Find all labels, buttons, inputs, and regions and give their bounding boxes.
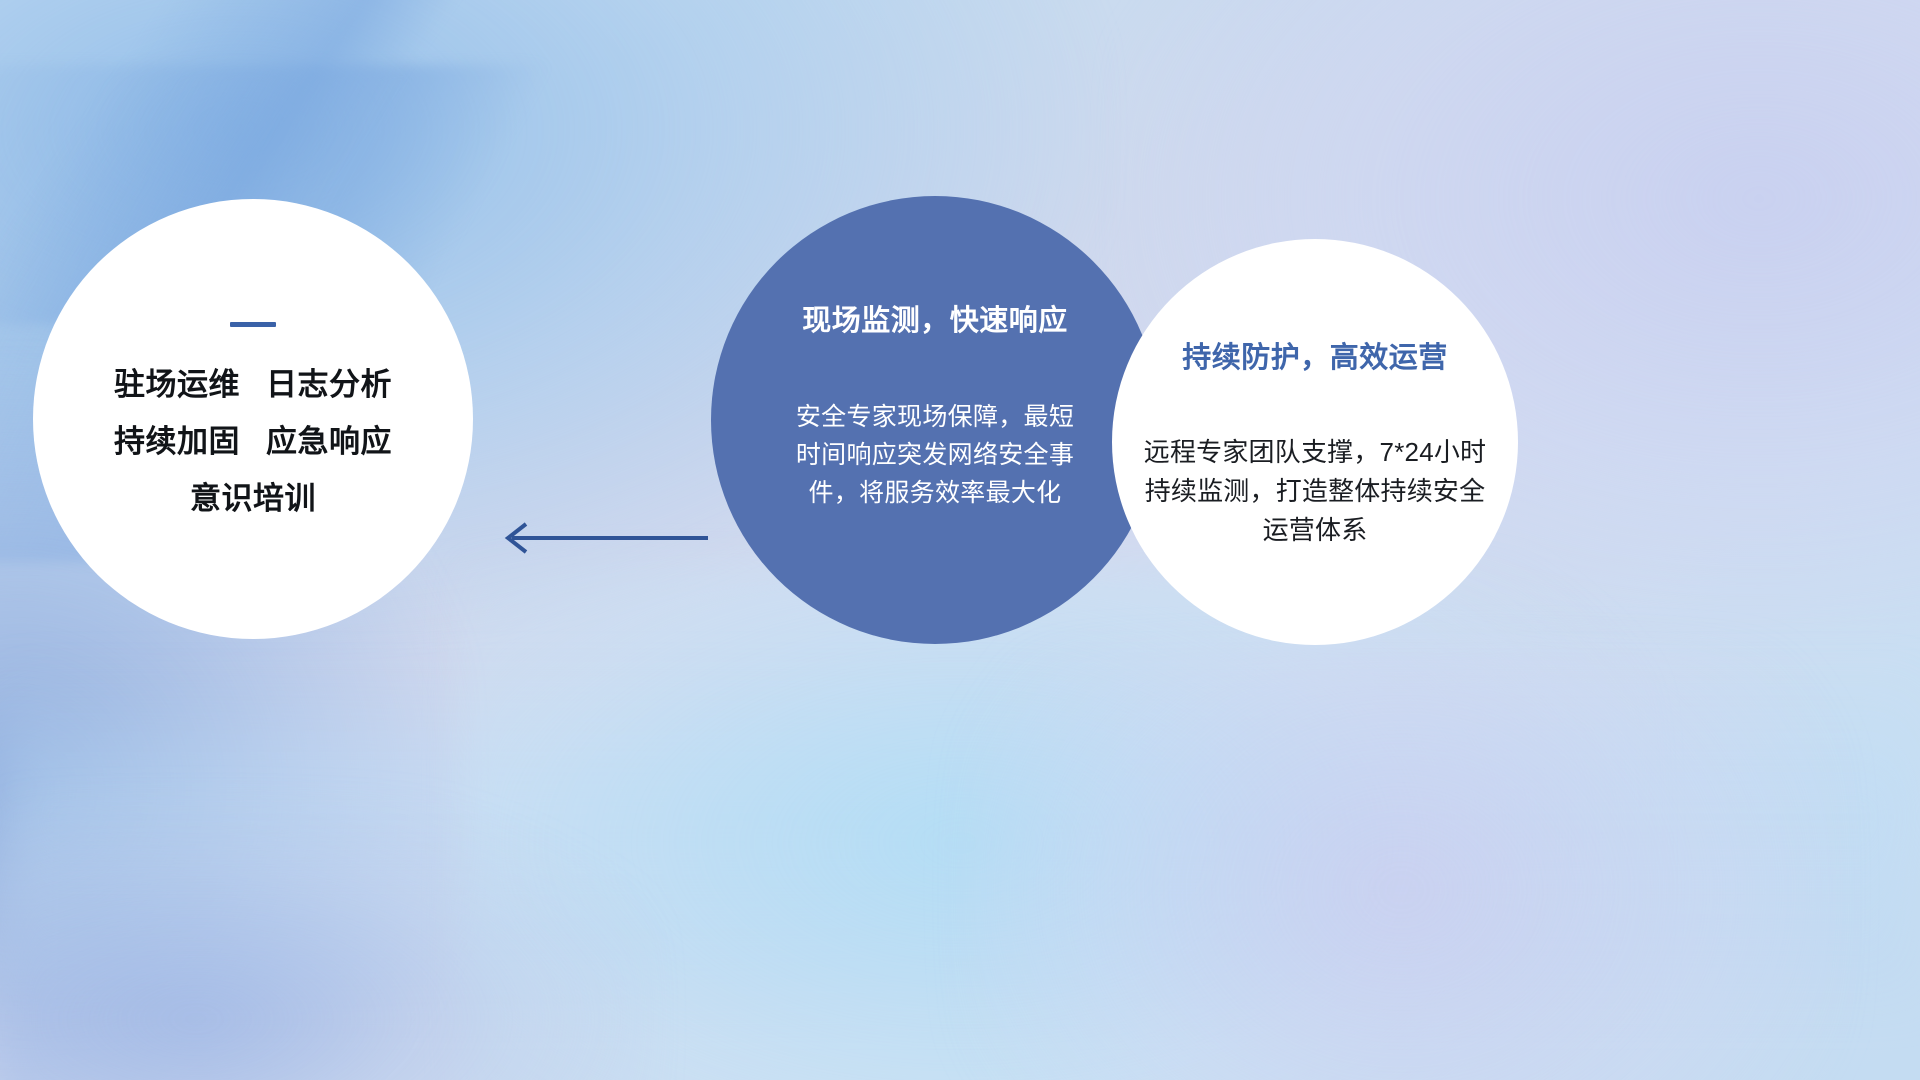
left-arrow-icon bbox=[490, 518, 710, 558]
capability-item: 意识培训 bbox=[190, 481, 316, 516]
capability-item: 驻场运维 bbox=[114, 367, 240, 402]
onsite-monitoring-title: 现场监测，快速响应 bbox=[802, 297, 1068, 339]
continuous-protection-body: 远程专家团队支撑，7*24小时持续监测，打造整体持续安全运营体系 bbox=[1135, 433, 1495, 550]
onsite-monitoring-circle: 现场监测，快速响应 安全专家现场保障，最短时间响应突发网络安全事件，将服务效率最… bbox=[711, 196, 1159, 644]
continuous-protection-title: 持续防护，高效运营 bbox=[1182, 334, 1448, 376]
onsite-monitoring-body: 安全专家现场保障，最短时间响应突发网络安全事件，将服务效率最大化 bbox=[785, 398, 1085, 512]
left-summary-circle: 驻场运维日志分析 持续加固应急响应 意识培训 bbox=[33, 199, 473, 639]
capability-item: 持续加固 bbox=[114, 424, 240, 459]
capability-list: 驻场运维日志分析 持续加固应急响应 意识培训 bbox=[114, 369, 392, 514]
capability-item: 应急响应 bbox=[266, 424, 392, 459]
dash-divider-icon bbox=[230, 322, 276, 327]
background-glow-bottom-right bbox=[960, 648, 1843, 1080]
background-glow-bottom-left bbox=[0, 799, 653, 1080]
connector-arrow bbox=[490, 518, 710, 558]
capability-row-3: 意识培训 bbox=[114, 483, 392, 514]
capability-item: 日志分析 bbox=[266, 367, 392, 402]
continuous-protection-circle: 持续防护，高效运营 远程专家团队支撑，7*24小时持续监测，打造整体持续安全运营… bbox=[1112, 239, 1518, 645]
capability-row-2: 持续加固应急响应 bbox=[114, 426, 392, 457]
capability-row-1: 驻场运维日志分析 bbox=[114, 369, 392, 400]
